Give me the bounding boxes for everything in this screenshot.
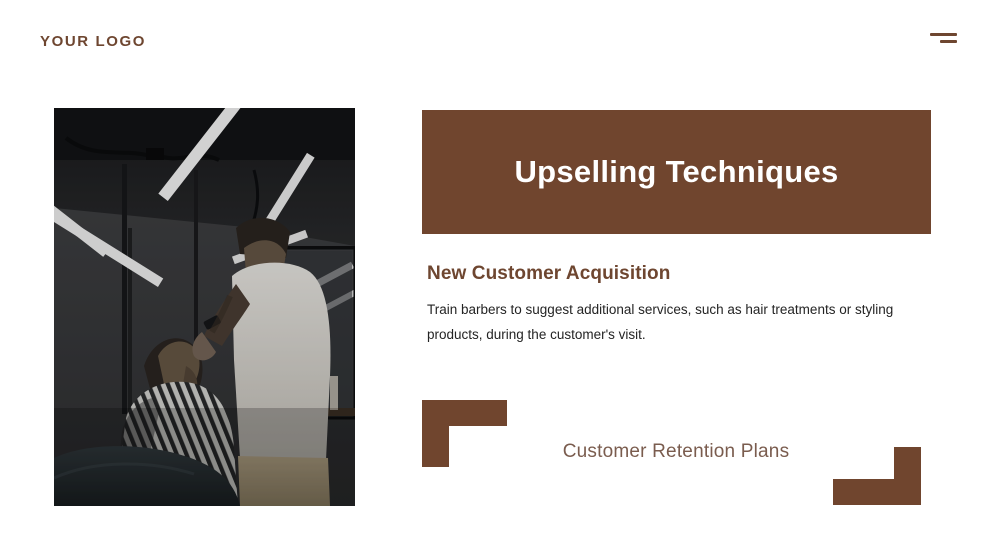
corner-bracket-right-icon xyxy=(833,447,921,505)
page-title: Upselling Techniques xyxy=(514,154,838,190)
retention-label: Customer Retention Plans xyxy=(510,441,842,463)
section-body-text: Train barbers to suggest additional serv… xyxy=(427,297,927,347)
bracket-right-vertical xyxy=(894,447,921,505)
barbershop-photo-illustration xyxy=(54,108,355,506)
barbershop-photo xyxy=(54,108,355,506)
bracket-left-vertical xyxy=(422,400,449,467)
hamburger-menu-icon[interactable] xyxy=(930,28,962,46)
title-banner: Upselling Techniques xyxy=(422,110,931,234)
corner-bracket-left-icon xyxy=(422,400,507,467)
menu-bar-top xyxy=(930,33,957,36)
section-subheading: New Customer Acquisition xyxy=(427,263,937,285)
slide-canvas: YOUR LOGO xyxy=(0,0,993,558)
menu-bar-bottom xyxy=(940,40,957,43)
logo-text[interactable]: YOUR LOGO xyxy=(40,33,146,50)
